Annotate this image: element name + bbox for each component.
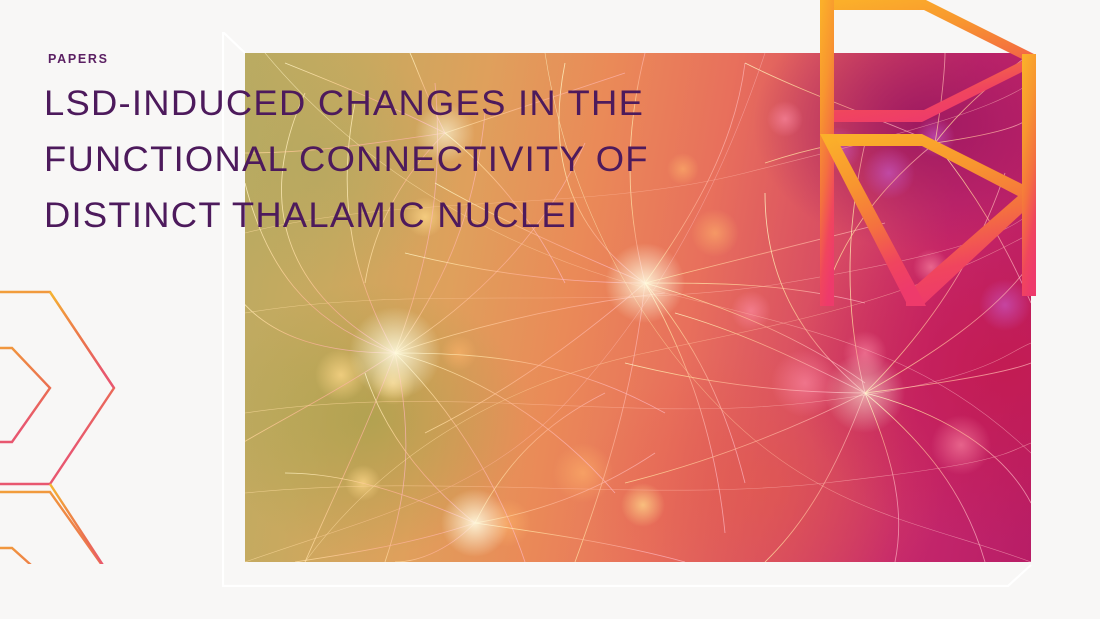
title-line-2: FUNCTIONAL CONNECTIVITY OF — [44, 132, 730, 188]
poster-canvas: PAPERS LSD-INDUCED CHANGES IN THE FUNCTI… — [0, 0, 1100, 619]
eyebrow-label: PAPERS — [48, 52, 109, 66]
title-line-1: LSD-INDUCED CHANGES IN THE — [44, 76, 730, 132]
gradient-arrow-b-mark — [806, 0, 1051, 308]
page-title: LSD-INDUCED CHANGES IN THE FUNCTIONAL CO… — [44, 76, 730, 244]
title-line-3: DISTINCT THALAMIC NUCLEI — [44, 188, 730, 244]
decorative-outline-b-mark — [0, 252, 182, 564]
